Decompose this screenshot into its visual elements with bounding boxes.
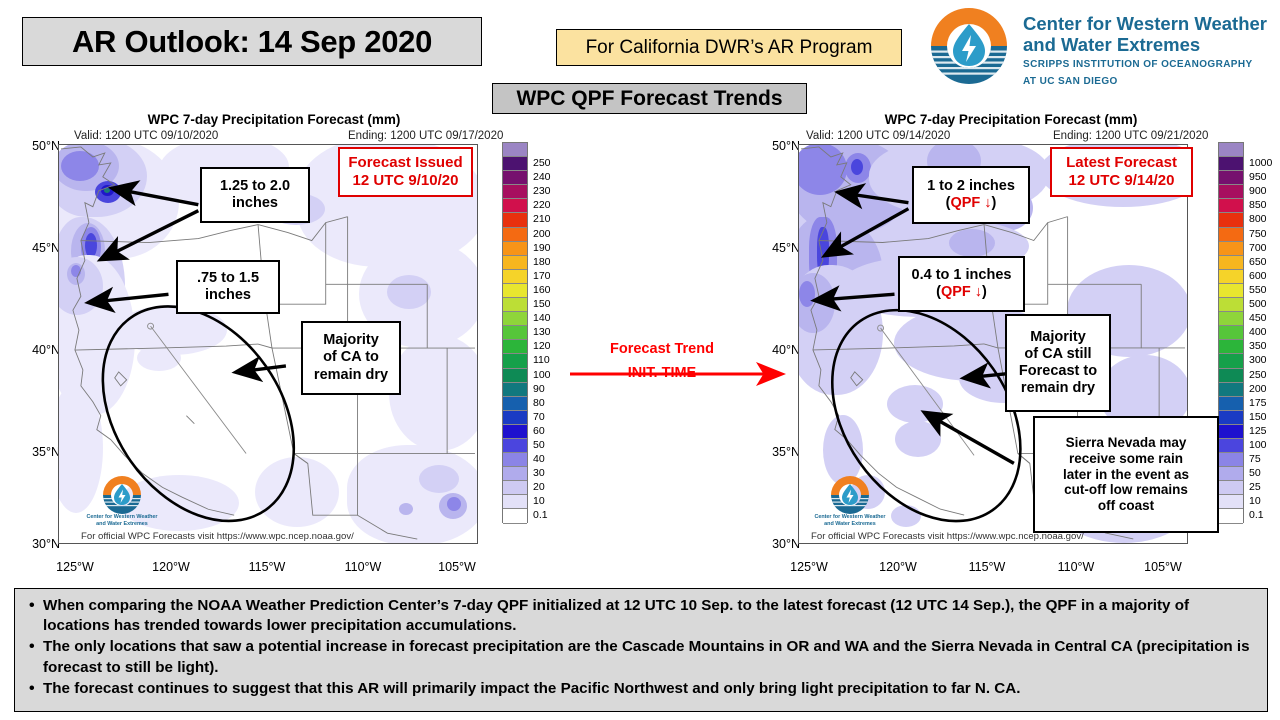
colorbar-swatch <box>503 270 527 284</box>
colorbar-swatch <box>503 256 527 270</box>
colorbar-swatch <box>1219 369 1243 383</box>
colorbar-swatch <box>1219 439 1243 453</box>
colorbar-tick-label: 40 <box>533 452 567 466</box>
colorbar-swatch <box>503 340 527 354</box>
colorbar-tick-label: 100 <box>533 368 567 382</box>
colorbar-tick-label: 10 <box>1249 494 1280 508</box>
colorbar-tick-label: 300 <box>1249 353 1280 367</box>
right-badge-line1: Latest Forecast <box>1066 154 1177 172</box>
colorbar-swatch <box>503 284 527 298</box>
right-map-xlabel-105W: 105°W <box>1128 560 1198 574</box>
right-callout-ca-line3: Forecast to <box>1019 363 1097 380</box>
colorbar-swatch <box>503 495 527 509</box>
colorbar-swatch <box>503 228 527 242</box>
left-map-xlabel-110W: 110°W <box>328 560 398 574</box>
forecast-trend-arrow-icon <box>568 360 788 390</box>
left-forecast-panel: WPC 7-day Precipitation Forecast (mm) Va… <box>18 112 578 582</box>
left-map-ylabel-35N: 35°N <box>12 445 60 459</box>
colorbar-swatch <box>503 439 527 453</box>
colorbar-tick-label: 160 <box>533 283 567 297</box>
colorbar-tick-label: 20 <box>533 480 567 494</box>
right-callout-nw-paren-close: ) <box>992 195 997 211</box>
colorbar-tick-label: 60 <box>533 424 567 438</box>
colorbar-tick-label: 90 <box>533 382 567 396</box>
colorbar-swatch <box>1219 213 1243 227</box>
right-map-xlabel-110W: 110°W <box>1041 560 1111 574</box>
left-map-xlabel-115W: 115°W <box>232 560 302 574</box>
colorbar-swatch <box>503 411 527 425</box>
colorbar-tick-label: 75 <box>1249 452 1280 466</box>
left-map-ending-time: Ending: 1200 UTC 09/17/2020 <box>348 130 503 142</box>
right-map-valid-time: Valid: 1200 UTC 09/14/2020 <box>806 130 950 142</box>
right-badge-line2: 12 UTC 9/14/20 <box>1069 172 1175 190</box>
cw3e-logo-text: Center for Western Weather and Water Ext… <box>1023 14 1267 88</box>
footer-bullet-3: The forecast continues to suggest that t… <box>29 679 1257 699</box>
colorbar-tick-label: 170 <box>533 269 567 283</box>
section-header-text: WPC QPF Forecast Trends <box>516 87 782 111</box>
left-badge-line1: Forecast Issued <box>348 154 462 172</box>
colorbar-swatch <box>1219 383 1243 397</box>
colorbar-tick-label: 650 <box>1249 255 1280 269</box>
colorbar-swatch <box>503 171 527 185</box>
footer-bullet-1: When comparing the NOAA Weather Predicti… <box>29 596 1257 636</box>
colorbar-swatch <box>503 397 527 411</box>
colorbar-swatch <box>1219 397 1243 411</box>
colorbar-swatch <box>1219 256 1243 270</box>
right-map-ylabel-30N: 30°N <box>752 537 800 551</box>
colorbar-tick-label: 750 <box>1249 227 1280 241</box>
left-map-ylabel-30N: 30°N <box>12 537 60 551</box>
colorbar-tick-label: 700 <box>1249 241 1280 255</box>
right-callout-nw-qpf-down: QPF ↓ <box>950 195 991 211</box>
colorbar-swatch <box>503 326 527 340</box>
colorbar-swatches <box>502 142 528 523</box>
colorbar-swatch <box>1219 340 1243 354</box>
left-badge-line2: 12 UTC 9/10/20 <box>353 172 459 190</box>
dwr-program-note: For California DWR’s AR Program <box>556 29 902 66</box>
colorbar-tick-label: 500 <box>1249 297 1280 311</box>
colorbar-tick-label: 30 <box>533 466 567 480</box>
left-callout-nw-line1: 1.25 to 2.0 <box>220 178 290 195</box>
colorbar-swatch <box>503 213 527 227</box>
section-header-qpf-trends: WPC QPF Forecast Trends <box>492 83 807 114</box>
right-forecast-panel: WPC 7-day Precipitation Forecast (mm) Va… <box>760 112 1280 582</box>
colorbar-tick-label: 1000 <box>1249 156 1280 170</box>
colorbar-swatch <box>1219 312 1243 326</box>
left-map-xlabel-125W: 125°W <box>40 560 110 574</box>
colorbar-tick-label: 50 <box>1249 466 1280 480</box>
colorbar-tick-label: 80 <box>533 396 567 410</box>
right-callout-nw-precip[interactable]: 1 to 2 inches (QPF ↓) <box>912 166 1030 224</box>
colorbar-tick-label: 110 <box>533 353 567 367</box>
colorbar-swatch <box>503 453 527 467</box>
colorbar-tick-label: 180 <box>533 255 567 269</box>
colorbar-swatch <box>503 383 527 397</box>
colorbar-tick-label: 250 <box>1249 368 1280 382</box>
colorbar-swatch <box>503 199 527 213</box>
right-callout-nw-line1: 1 to 2 inches <box>927 178 1015 195</box>
right-map-ylabel-40N: 40°N <box>752 343 800 357</box>
colorbar-swatch <box>503 185 527 199</box>
colorbar-tick-label: 190 <box>533 241 567 255</box>
colorbar-swatch <box>503 467 527 481</box>
right-callout-sierra-line3: later in the event as <box>1063 467 1189 483</box>
colorbar-tick-label: 100 <box>1249 438 1280 452</box>
cw3e-name-line2: and Water Extremes <box>1023 35 1267 56</box>
right-map-xlabel-120W: 120°W <box>863 560 933 574</box>
colorbar-swatch <box>1219 171 1243 185</box>
colorbar-tick-label: 600 <box>1249 269 1280 283</box>
right-callout-ca-line4: remain dry <box>1021 380 1095 397</box>
colorbar-tick-label: 0.1 <box>1249 508 1280 522</box>
right-callout-nw-line2: (QPF ↓) <box>946 195 997 212</box>
colorbar-swatch <box>503 143 527 157</box>
colorbar-swatch <box>1219 228 1243 242</box>
colorbar-swatch <box>503 354 527 368</box>
footer-summary: When comparing the NOAA Weather Predicti… <box>14 588 1268 712</box>
colorbar-swatch <box>1219 481 1243 495</box>
left-map-ylabel-40N: 40°N <box>12 343 60 357</box>
right-callout-or-line2: (QPF ↓) <box>936 284 987 301</box>
colorbar-tick-label: 150 <box>1249 410 1280 424</box>
colorbar-swatch <box>503 425 527 439</box>
colorbar-tick-label: 210 <box>533 212 567 226</box>
colorbar-swatch <box>1219 326 1243 340</box>
footer-bullet-2: The only locations that saw a potential … <box>29 637 1257 677</box>
right-callout-ca-dry[interactable]: Majority of CA still Forecast to remain … <box>1005 314 1111 412</box>
cw3e-logo: Center for Western Weather and Water Ext… <box>925 6 1270 86</box>
left-map-ylabel-45N: 45°N <box>12 241 60 255</box>
left-map-xlabel-105W: 105°W <box>422 560 492 574</box>
right-callout-sierra-nevada[interactable]: Sierra Nevada may receive some rain late… <box>1033 416 1219 533</box>
colorbar-tick-label: 400 <box>1249 325 1280 339</box>
colorbar-swatch <box>503 509 527 523</box>
colorbar-swatch <box>1219 509 1243 523</box>
right-callout-sierra-line5: off coast <box>1098 498 1154 514</box>
left-callout-ca-line3: remain dry <box>314 367 388 384</box>
right-map-xlabel-125W: 125°W <box>774 560 844 574</box>
right-callout-or-line1: 0.4 to 1 inches <box>912 267 1012 284</box>
left-callout-ca-dry[interactable]: Majority of CA to remain dry <box>301 321 401 395</box>
colorbar-labels: 1000950900850800750700650600550500450400… <box>1249 142 1280 523</box>
cw3e-affiliation-line1: SCRIPPS INSTITUTION OF OCEANOGRAPHY <box>1023 59 1267 72</box>
colorbar-tick-label: 125 <box>1249 424 1280 438</box>
colorbar-tick-label: 140 <box>533 311 567 325</box>
right-map-ylabel-50N: 50°N <box>752 139 800 153</box>
colorbar-tick-label: 450 <box>1249 311 1280 325</box>
colorbar-swatch <box>503 312 527 326</box>
left-callout-ca-line1: Majority <box>323 332 379 349</box>
cw3e-name-line1: Center for Western Weather <box>1023 14 1267 35</box>
colorbar-tick-label: 10 <box>533 494 567 508</box>
right-map-title: WPC 7-day Precipitation Forecast (mm) <box>806 112 1216 127</box>
colorbar-tick-label: 200 <box>533 227 567 241</box>
colorbar-tick-label: 150 <box>533 297 567 311</box>
left-forecast-issued-badge[interactable]: Forecast Issued 12 UTC 9/10/20 <box>338 147 473 197</box>
page-title: AR Outlook: 14 Sep 2020 <box>22 17 482 66</box>
colorbar-tick-label <box>1249 142 1280 156</box>
colorbar-tick-label: 350 <box>1249 339 1280 353</box>
left-map-valid-time: Valid: 1200 UTC 09/10/2020 <box>74 130 218 142</box>
colorbar-tick-label: 900 <box>1249 184 1280 198</box>
colorbar-tick-label: 120 <box>533 339 567 353</box>
colorbar-tick-label: 50 <box>533 438 567 452</box>
colorbar-tick-label: 200 <box>1249 382 1280 396</box>
dwr-program-note-text: For California DWR’s AR Program <box>586 37 873 59</box>
right-callout-ca-line2: of CA still <box>1024 346 1091 363</box>
right-latest-forecast-badge[interactable]: Latest Forecast 12 UTC 9/14/20 <box>1050 147 1193 197</box>
colorbar-swatch <box>1219 242 1243 256</box>
colorbar-swatches <box>1218 142 1244 523</box>
colorbar-swatch <box>1219 495 1243 509</box>
colorbar-swatch <box>503 298 527 312</box>
colorbar-tick-label: 800 <box>1249 212 1280 226</box>
footer-bullet-list: When comparing the NOAA Weather Predicti… <box>29 596 1257 699</box>
colorbar-swatch <box>1219 199 1243 213</box>
colorbar-tick-label <box>533 142 567 156</box>
right-map-ending-time: Ending: 1200 UTC 09/21/2020 <box>1053 130 1208 142</box>
forecast-trend-label: Forecast Trend <box>592 341 732 357</box>
colorbar-tick-label: 230 <box>533 184 567 198</box>
right-callout-or-qpf-down: QPF ↓ <box>941 284 982 300</box>
left-callout-or-line2: inches <box>205 287 251 304</box>
right-callout-sierra-line2: receive some rain <box>1069 451 1183 467</box>
colorbar-tick-label: 220 <box>533 198 567 212</box>
cw3e-logo-mark-icon <box>925 6 1013 84</box>
colorbar-tick-label: 250 <box>533 156 567 170</box>
left-map-ylabel-50N: 50°N <box>12 139 60 153</box>
left-callout-ca-line2: of CA to <box>323 349 379 366</box>
right-callout-or-paren-close: ) <box>982 284 987 300</box>
colorbar-tick-label: 0.1 <box>533 508 567 522</box>
colorbar-tick-label: 25 <box>1249 480 1280 494</box>
colorbar-swatch <box>1219 157 1243 171</box>
colorbar-swatch <box>503 481 527 495</box>
right-callout-sierra-line1: Sierra Nevada may <box>1066 435 1187 451</box>
colorbar-swatch <box>1219 284 1243 298</box>
colorbar-tick-label: 130 <box>533 325 567 339</box>
left-callout-nw-precip[interactable]: 1.25 to 2.0 inches <box>200 167 310 223</box>
colorbar-swatch <box>1219 143 1243 157</box>
colorbar-swatch <box>503 157 527 171</box>
right-map-ylabel-45N: 45°N <box>752 241 800 255</box>
colorbar-labels: 2502402302202102001901801701601501401301… <box>533 142 567 523</box>
colorbar-tick-label: 550 <box>1249 283 1280 297</box>
colorbar-swatch <box>1219 298 1243 312</box>
right-map-xlabel-115W: 115°W <box>952 560 1022 574</box>
colorbar-swatch <box>1219 411 1243 425</box>
cw3e-affiliation-line2: AT UC SAN DIEGO <box>1023 76 1267 89</box>
right-callout-ca-line1: Majority <box>1030 329 1086 346</box>
colorbar-swatch <box>1219 354 1243 368</box>
colorbar-swatch <box>503 369 527 383</box>
right-callout-sierra-line4: cut-off low remains <box>1064 482 1188 498</box>
page-title-text: AR Outlook: 14 Sep 2020 <box>72 24 432 60</box>
colorbar-swatch <box>1219 467 1243 481</box>
colorbar-swatch <box>1219 453 1243 467</box>
colorbar-tick-label: 850 <box>1249 198 1280 212</box>
right-callout-or-coast-precip[interactable]: 0.4 to 1 inches (QPF ↓) <box>898 256 1025 312</box>
left-map-title: WPC 7-day Precipitation Forecast (mm) <box>64 112 484 127</box>
colorbar-tick-label: 950 <box>1249 170 1280 184</box>
colorbar-swatch <box>503 242 527 256</box>
colorbar-tick-label: 240 <box>533 170 567 184</box>
colorbar-swatch <box>1219 270 1243 284</box>
left-map-xlabel-120W: 120°W <box>136 560 206 574</box>
colorbar-swatch <box>1219 185 1243 199</box>
left-callout-nw-line2: inches <box>232 195 278 212</box>
colorbar-tick-label: 70 <box>533 410 567 424</box>
right-map-ylabel-35N: 35°N <box>752 445 800 459</box>
colorbar-swatch <box>1219 425 1243 439</box>
colorbar-tick-label: 175 <box>1249 396 1280 410</box>
left-callout-or-line1: .75 to 1.5 <box>197 270 259 287</box>
left-callout-or-coast-precip[interactable]: .75 to 1.5 inches <box>176 260 280 314</box>
